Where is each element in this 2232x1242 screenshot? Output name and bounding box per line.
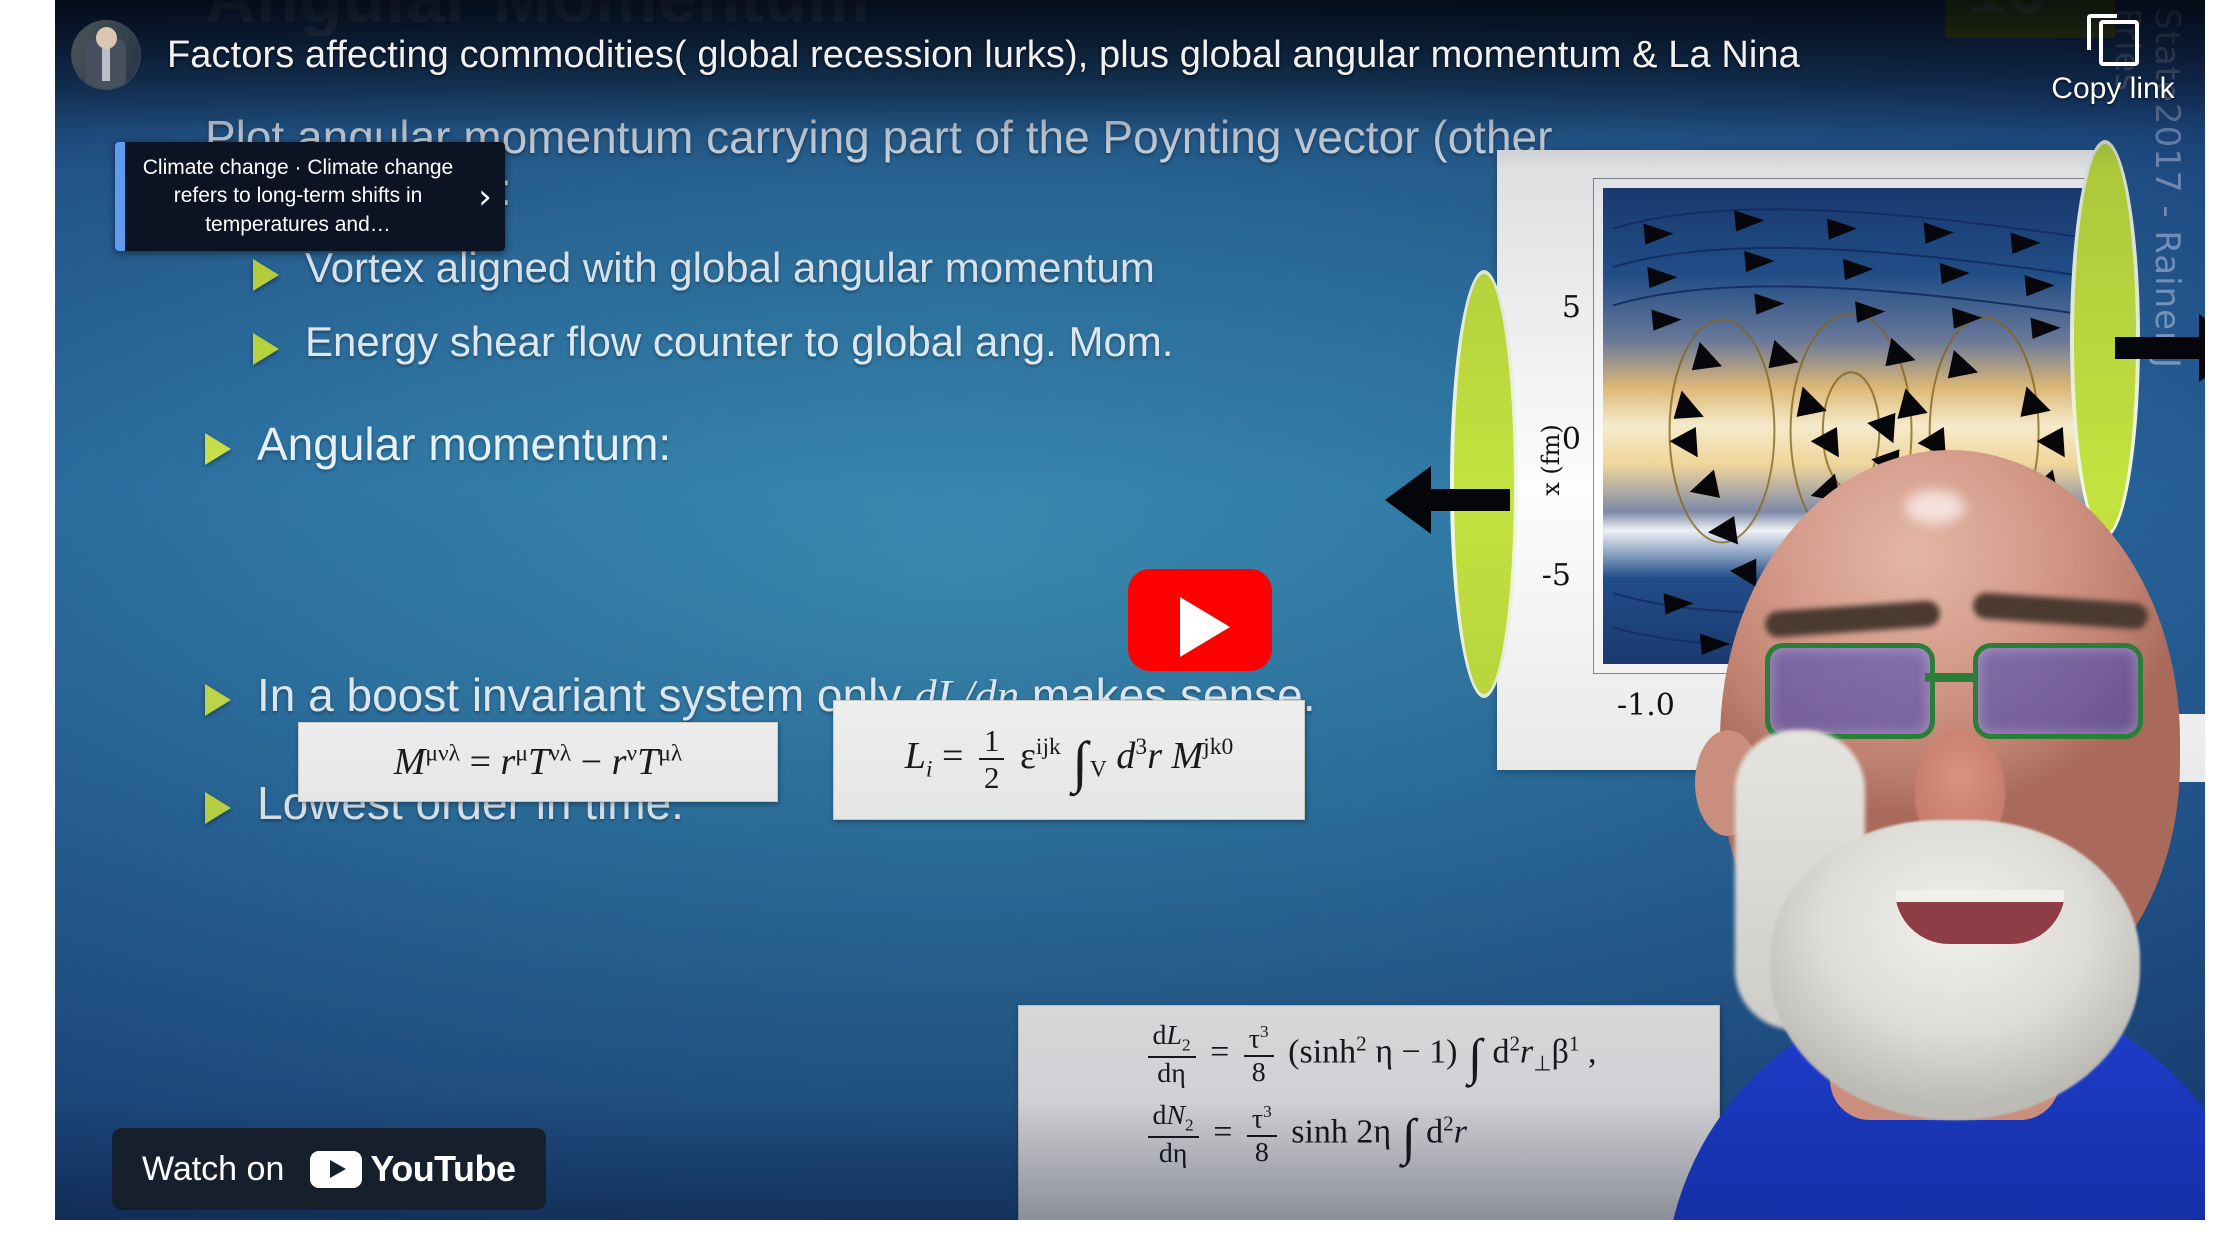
info-card-climate-change[interactable]: Climate change · Climate change refers t… [115, 142, 505, 251]
triangle-bullet-icon [253, 333, 279, 365]
formula-box-angular-momentum-tensor: Mμνλ = rμTνλ − rνTμλ [298, 722, 778, 802]
speaker-glasses [1755, 635, 2155, 735]
triangle-bullet-icon [205, 684, 231, 716]
watch-on-youtube-button[interactable]: Watch on YouTube [112, 1128, 546, 1210]
youtube-logo: YouTube [310, 1148, 515, 1190]
formula-text: dL2dη = τ38 (sinh2 η − 1) ∫ d2r⊥β1 , dN2… [1142, 1022, 1597, 1181]
copy-link-button[interactable]: Copy link [2049, 14, 2177, 106]
speaker-beard [1770, 820, 2140, 1120]
sub-bullet-label: Energy shear flow counter to global ang.… [305, 319, 1173, 365]
chevron-right-icon[interactable]: › [465, 180, 505, 214]
figure-y-tick: -5 [1511, 558, 1571, 593]
video-title[interactable]: Factors affecting commodities( global re… [167, 34, 1800, 77]
figure-y-tick: 0 [1521, 422, 1581, 457]
list-item: Vortex aligned with global angular momen… [253, 245, 1625, 291]
figure-y-tick: 5 [1521, 290, 1581, 325]
info-card-accent-bar [115, 142, 125, 251]
glasses-lens-left [1765, 643, 1935, 739]
glasses-lens-right [1973, 643, 2143, 739]
youtube-embedded-player[interactable]: Angular Momentum 16 State2017 - Rainer J… [55, 0, 2205, 1220]
triangle-bullet-icon [205, 433, 231, 465]
green-ellipse-left [1450, 270, 1518, 698]
info-card-text: Climate change · Climate change refers t… [125, 142, 465, 251]
player-header: Factors affecting commodities( global re… [55, 0, 2205, 110]
watch-on-label: Watch on [142, 1150, 284, 1189]
formula-box-angular-momentum-integral: Li = 12 εijk ∫V d3r Mjk0 [833, 700, 1305, 820]
play-icon [1180, 597, 1230, 657]
formula-text: Mμνλ = rμTνλ − rνTμλ [394, 740, 683, 784]
channel-avatar[interactable] [71, 20, 141, 90]
play-button[interactable] [1128, 569, 1272, 671]
list-item: Energy shear flow counter to global ang.… [253, 319, 1625, 365]
triangle-bullet-icon [205, 792, 231, 824]
triangle-bullet-icon [253, 259, 279, 291]
formula-text: Li = 12 εijk ∫V d3r Mjk0 [905, 725, 1234, 794]
list-item: Angular momentum: [205, 419, 1625, 470]
slide-sub-bullets: Vortex aligned with global angular momen… [205, 245, 1625, 365]
glasses-bridge [1925, 673, 1977, 682]
youtube-play-icon [310, 1151, 362, 1188]
copy-link-label: Copy link [2051, 72, 2174, 106]
bullet-label-angular-momentum: Angular momentum: [257, 419, 671, 470]
copy-icon [2087, 14, 2139, 66]
sub-bullet-label: Vortex aligned with global angular momen… [305, 245, 1155, 291]
speaker-head-highlight [1905, 490, 1965, 524]
youtube-wordmark: YouTube [370, 1148, 515, 1190]
bullet3-pre: In a boost invariant system only [257, 669, 914, 721]
webcam-speaker-overlay [1615, 430, 2205, 1220]
screenshot-root: Angular Momentum 16 State2017 - Rainer J… [0, 0, 2232, 1242]
